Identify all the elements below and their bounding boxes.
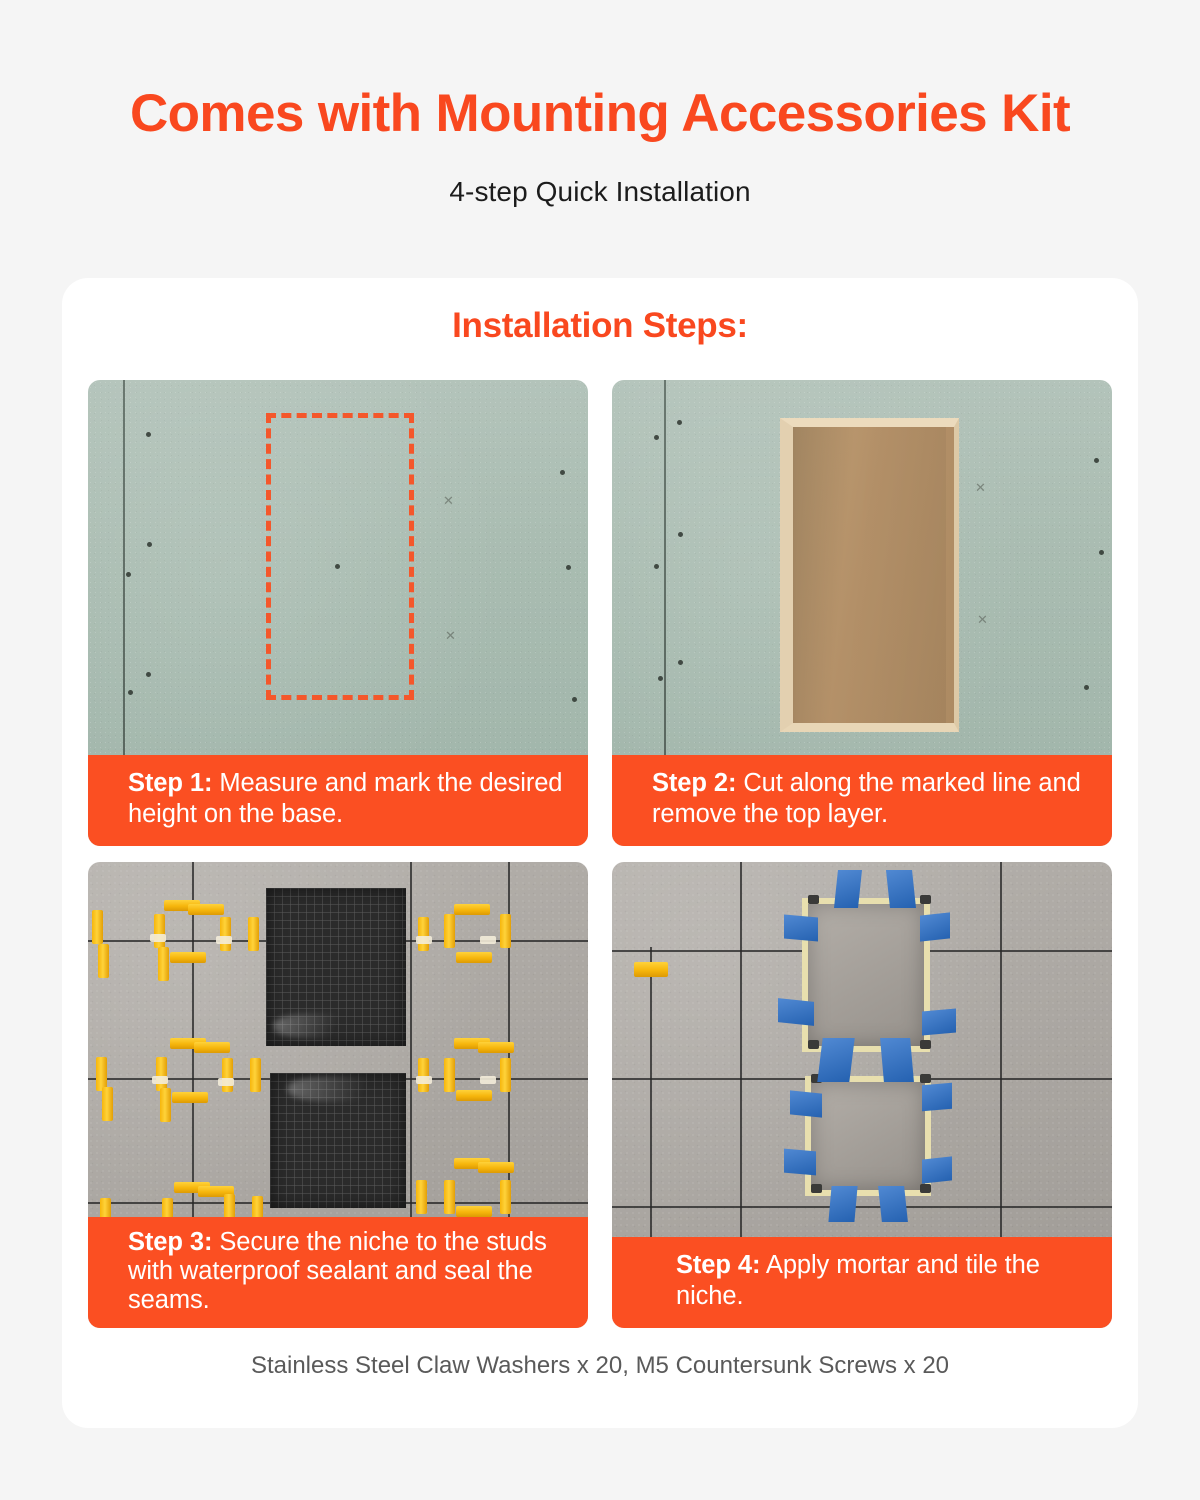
step-2-caption: Step 2: Cut along the marked line and re… xyxy=(612,755,1112,846)
page-subtitle: 4-step Quick Installation xyxy=(0,176,1200,208)
leveling-wedge xyxy=(218,1078,234,1086)
screw-dot xyxy=(566,565,571,570)
installation-steps-card: Installation Steps: ✕ ✕ xyxy=(62,278,1138,1428)
leveling-clip xyxy=(222,1058,233,1092)
leveling-clip xyxy=(418,1058,429,1092)
leveling-wedge xyxy=(416,936,432,944)
screw-dot xyxy=(658,676,663,681)
leveling-clip xyxy=(444,1180,455,1214)
blue-tape-strip xyxy=(880,1038,914,1082)
screw-dot xyxy=(1084,685,1089,690)
grout-line xyxy=(612,1206,1112,1208)
screw-dot xyxy=(678,660,683,665)
page-title: Comes with Mounting Accessories Kit xyxy=(0,86,1200,142)
niche-cut-frame xyxy=(780,418,959,732)
screw-dot xyxy=(678,532,683,537)
step-1-label: Step 1 xyxy=(128,769,204,797)
screw-dot xyxy=(147,542,152,547)
leveling-wedge xyxy=(152,1076,168,1084)
step-4-caption: Step 4: Apply mortar and tile the niche. xyxy=(612,1237,1112,1328)
leveling-clip xyxy=(92,910,103,944)
leveling-clip xyxy=(444,914,455,948)
screw-dot xyxy=(572,697,577,702)
niche-corner-bracket xyxy=(920,1074,931,1083)
screw-dot xyxy=(126,572,131,577)
leveling-clip xyxy=(444,1058,455,1092)
niche-corner-bracket xyxy=(920,1040,931,1049)
niche-corner-bracket xyxy=(920,1184,931,1193)
leveling-wedge xyxy=(480,1076,496,1084)
leveling-clip xyxy=(160,1088,171,1122)
card-title: Installation Steps: xyxy=(62,278,1138,346)
leveling-clip xyxy=(416,1180,427,1214)
step-cell-4: Step 4: Apply mortar and tile the niche. xyxy=(612,862,1112,1328)
blue-tape-strip xyxy=(920,912,950,941)
upper-niche-frame xyxy=(802,898,930,1052)
leveling-clip xyxy=(478,1162,514,1173)
leveling-clip xyxy=(154,914,165,948)
blue-tape-strip xyxy=(778,998,814,1026)
leveling-clip xyxy=(172,1092,208,1103)
screw-dot xyxy=(654,564,659,569)
mesh-glare xyxy=(274,1014,368,1038)
screw-dot xyxy=(128,690,133,695)
dashed-marking-rectangle xyxy=(266,413,414,700)
leveling-wedge xyxy=(480,936,496,944)
leveling-clip xyxy=(250,1058,261,1092)
step-2-label: Step 2 xyxy=(652,769,728,797)
pencil-mark-icon: ✕ xyxy=(977,612,988,628)
leveling-clip xyxy=(500,1180,511,1214)
blue-tape-strip xyxy=(922,1009,956,1036)
leveling-clip xyxy=(220,917,231,951)
leveling-clip xyxy=(248,917,259,951)
step-cell-3: Step 3: Secure the niche to the studs wi… xyxy=(88,862,588,1328)
step-cell-2: ✕ ✕ Step 2: Cut along the marked line an… xyxy=(612,380,1112,846)
screw-dot xyxy=(677,420,682,425)
blue-tape-strip xyxy=(922,1083,952,1112)
niche-corner-bracket xyxy=(920,895,931,904)
leveling-clip xyxy=(418,917,429,951)
leveling-clip xyxy=(456,1206,492,1217)
niche-corner-bracket xyxy=(811,1184,822,1193)
leveling-clip xyxy=(478,1042,514,1053)
blue-tape-strip xyxy=(790,1090,822,1117)
leveling-clip xyxy=(500,1058,511,1092)
steps-grid: ✕ ✕ Step 1: Measure and mark the desired… xyxy=(88,380,1112,1328)
niche-corner-bracket xyxy=(808,895,819,904)
leveling-clip xyxy=(158,947,169,981)
leveling-clip xyxy=(194,1042,230,1053)
leveling-clip xyxy=(98,944,109,978)
leveling-clip xyxy=(456,1090,492,1101)
lower-niche-frame xyxy=(805,1076,931,1196)
leveling-wedge xyxy=(216,936,232,944)
blue-tape-strip xyxy=(878,1186,908,1222)
screw-dot xyxy=(1099,550,1104,555)
infographic-page: Comes with Mounting Accessories Kit 4-st… xyxy=(0,0,1200,1500)
leveling-wedge xyxy=(416,1076,432,1084)
leveling-clip xyxy=(170,952,206,963)
blue-tape-strip xyxy=(834,870,862,908)
step-cell-1: ✕ ✕ Step 1: Measure and mark the desired… xyxy=(88,380,588,846)
screw-dot xyxy=(560,470,565,475)
step-1-caption: Step 1: Measure and mark the desired hei… xyxy=(88,755,588,846)
screw-dot xyxy=(1094,458,1099,463)
header: Comes with Mounting Accessories Kit 4-st… xyxy=(0,0,1200,208)
step-4-label: Step 4 xyxy=(676,1251,752,1279)
leveling-clip xyxy=(454,904,490,915)
pencil-mark-icon: ✕ xyxy=(445,628,456,644)
leveling-clip xyxy=(96,1057,107,1091)
screw-dot xyxy=(654,435,659,440)
leveling-clip xyxy=(188,904,224,915)
step-3-label: Step 3 xyxy=(128,1228,204,1256)
leveling-clip xyxy=(634,962,668,977)
leveling-wedge xyxy=(150,934,166,942)
screw-dot xyxy=(146,432,151,437)
leveling-clip xyxy=(456,952,492,963)
screw-dot xyxy=(146,672,151,677)
leveling-clip xyxy=(156,1057,167,1091)
leveling-clip xyxy=(500,914,511,948)
blue-tape-strip xyxy=(828,1186,857,1222)
pencil-mark-icon: ✕ xyxy=(443,493,454,509)
accessories-note: Stainless Steel Claw Washers x 20, M5 Co… xyxy=(62,1352,1138,1380)
niche-corner-bracket xyxy=(808,1040,819,1049)
pencil-mark-icon: ✕ xyxy=(975,480,986,496)
blue-tape-strip xyxy=(817,1038,854,1082)
mesh-glare xyxy=(288,1076,406,1102)
blue-tape-strip xyxy=(784,915,818,942)
leveling-clip xyxy=(102,1087,113,1121)
blue-tape-strip xyxy=(886,870,916,908)
step-3-caption: Step 3: Secure the niche to the studs wi… xyxy=(88,1217,588,1328)
blue-tape-strip xyxy=(784,1149,816,1176)
blue-tape-strip xyxy=(922,1156,952,1183)
